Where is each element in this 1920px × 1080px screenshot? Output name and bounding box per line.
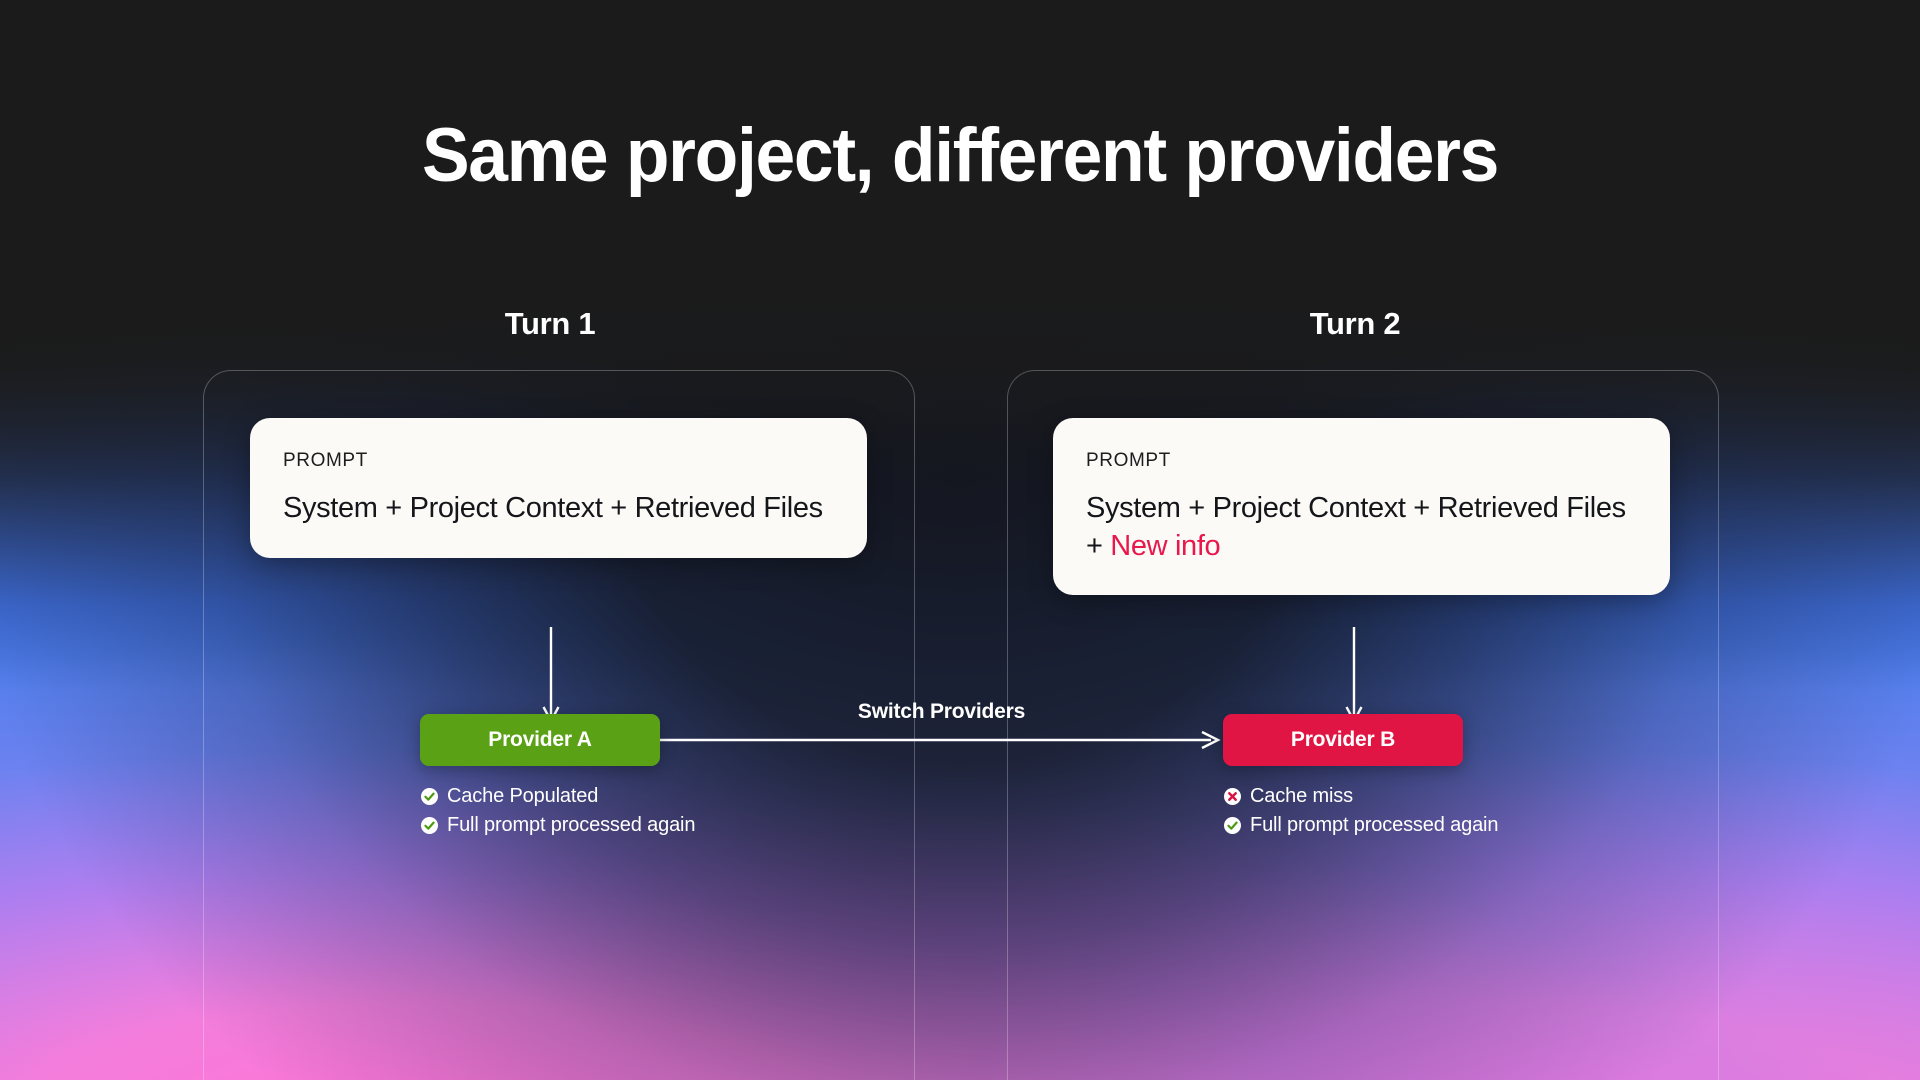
status-label: Full prompt processed again	[447, 814, 695, 837]
check-circle-icon	[421, 817, 438, 834]
turn-1-label: Turn 1	[420, 306, 680, 342]
status-row: Cache Populated	[421, 785, 695, 808]
provider-a-pill[interactable]: Provider A	[420, 714, 660, 766]
provider-b-label: Provider B	[1291, 728, 1395, 752]
arrow-down-icon-turn-2	[1343, 627, 1365, 727]
status-label: Cache Populated	[447, 785, 598, 808]
prompt-eyebrow-label: PROMPT	[1086, 450, 1637, 472]
arrow-down-icon-turn-1	[540, 627, 562, 727]
check-circle-icon	[421, 788, 438, 805]
provider-b-pill[interactable]: Provider B	[1223, 714, 1463, 766]
status-label: Full prompt processed again	[1250, 814, 1498, 837]
status-row: Full prompt processed again	[421, 814, 695, 837]
provider-a-label: Provider A	[488, 728, 591, 752]
prompt-body-text: System + Project Context + Retrieved Fil…	[283, 490, 834, 528]
turn-2-label: Turn 2	[1225, 306, 1485, 342]
diagram-canvas: Same project, different providers Turn 1…	[0, 0, 1920, 1080]
status-label: Cache miss	[1250, 785, 1353, 808]
switch-providers-label: Switch Providers	[660, 700, 1223, 724]
arrow-right-icon-switch	[660, 728, 1223, 752]
prompt-card-turn-2: PROMPT System + Project Context + Retrie…	[1053, 418, 1670, 595]
x-circle-icon	[1224, 788, 1241, 805]
prompt-card-turn-1: PROMPT System + Project Context + Retrie…	[250, 418, 867, 558]
prompt-text-highlight: New info	[1110, 530, 1220, 562]
status-row: Full prompt processed again	[1224, 814, 1498, 837]
status-list-turn-1: Cache Populated Full prompt processed ag…	[421, 785, 695, 837]
prompt-text-base: System + Project Context + Retrieved Fil…	[283, 492, 823, 524]
status-list-turn-2: Cache miss Full prompt processed again	[1224, 785, 1498, 837]
prompt-body-text: System + Project Context + Retrieved Fil…	[1086, 490, 1637, 565]
page-title: Same project, different providers	[58, 112, 1863, 199]
check-circle-icon	[1224, 817, 1241, 834]
status-row: Cache miss	[1224, 785, 1498, 808]
prompt-eyebrow-label: PROMPT	[283, 450, 834, 472]
